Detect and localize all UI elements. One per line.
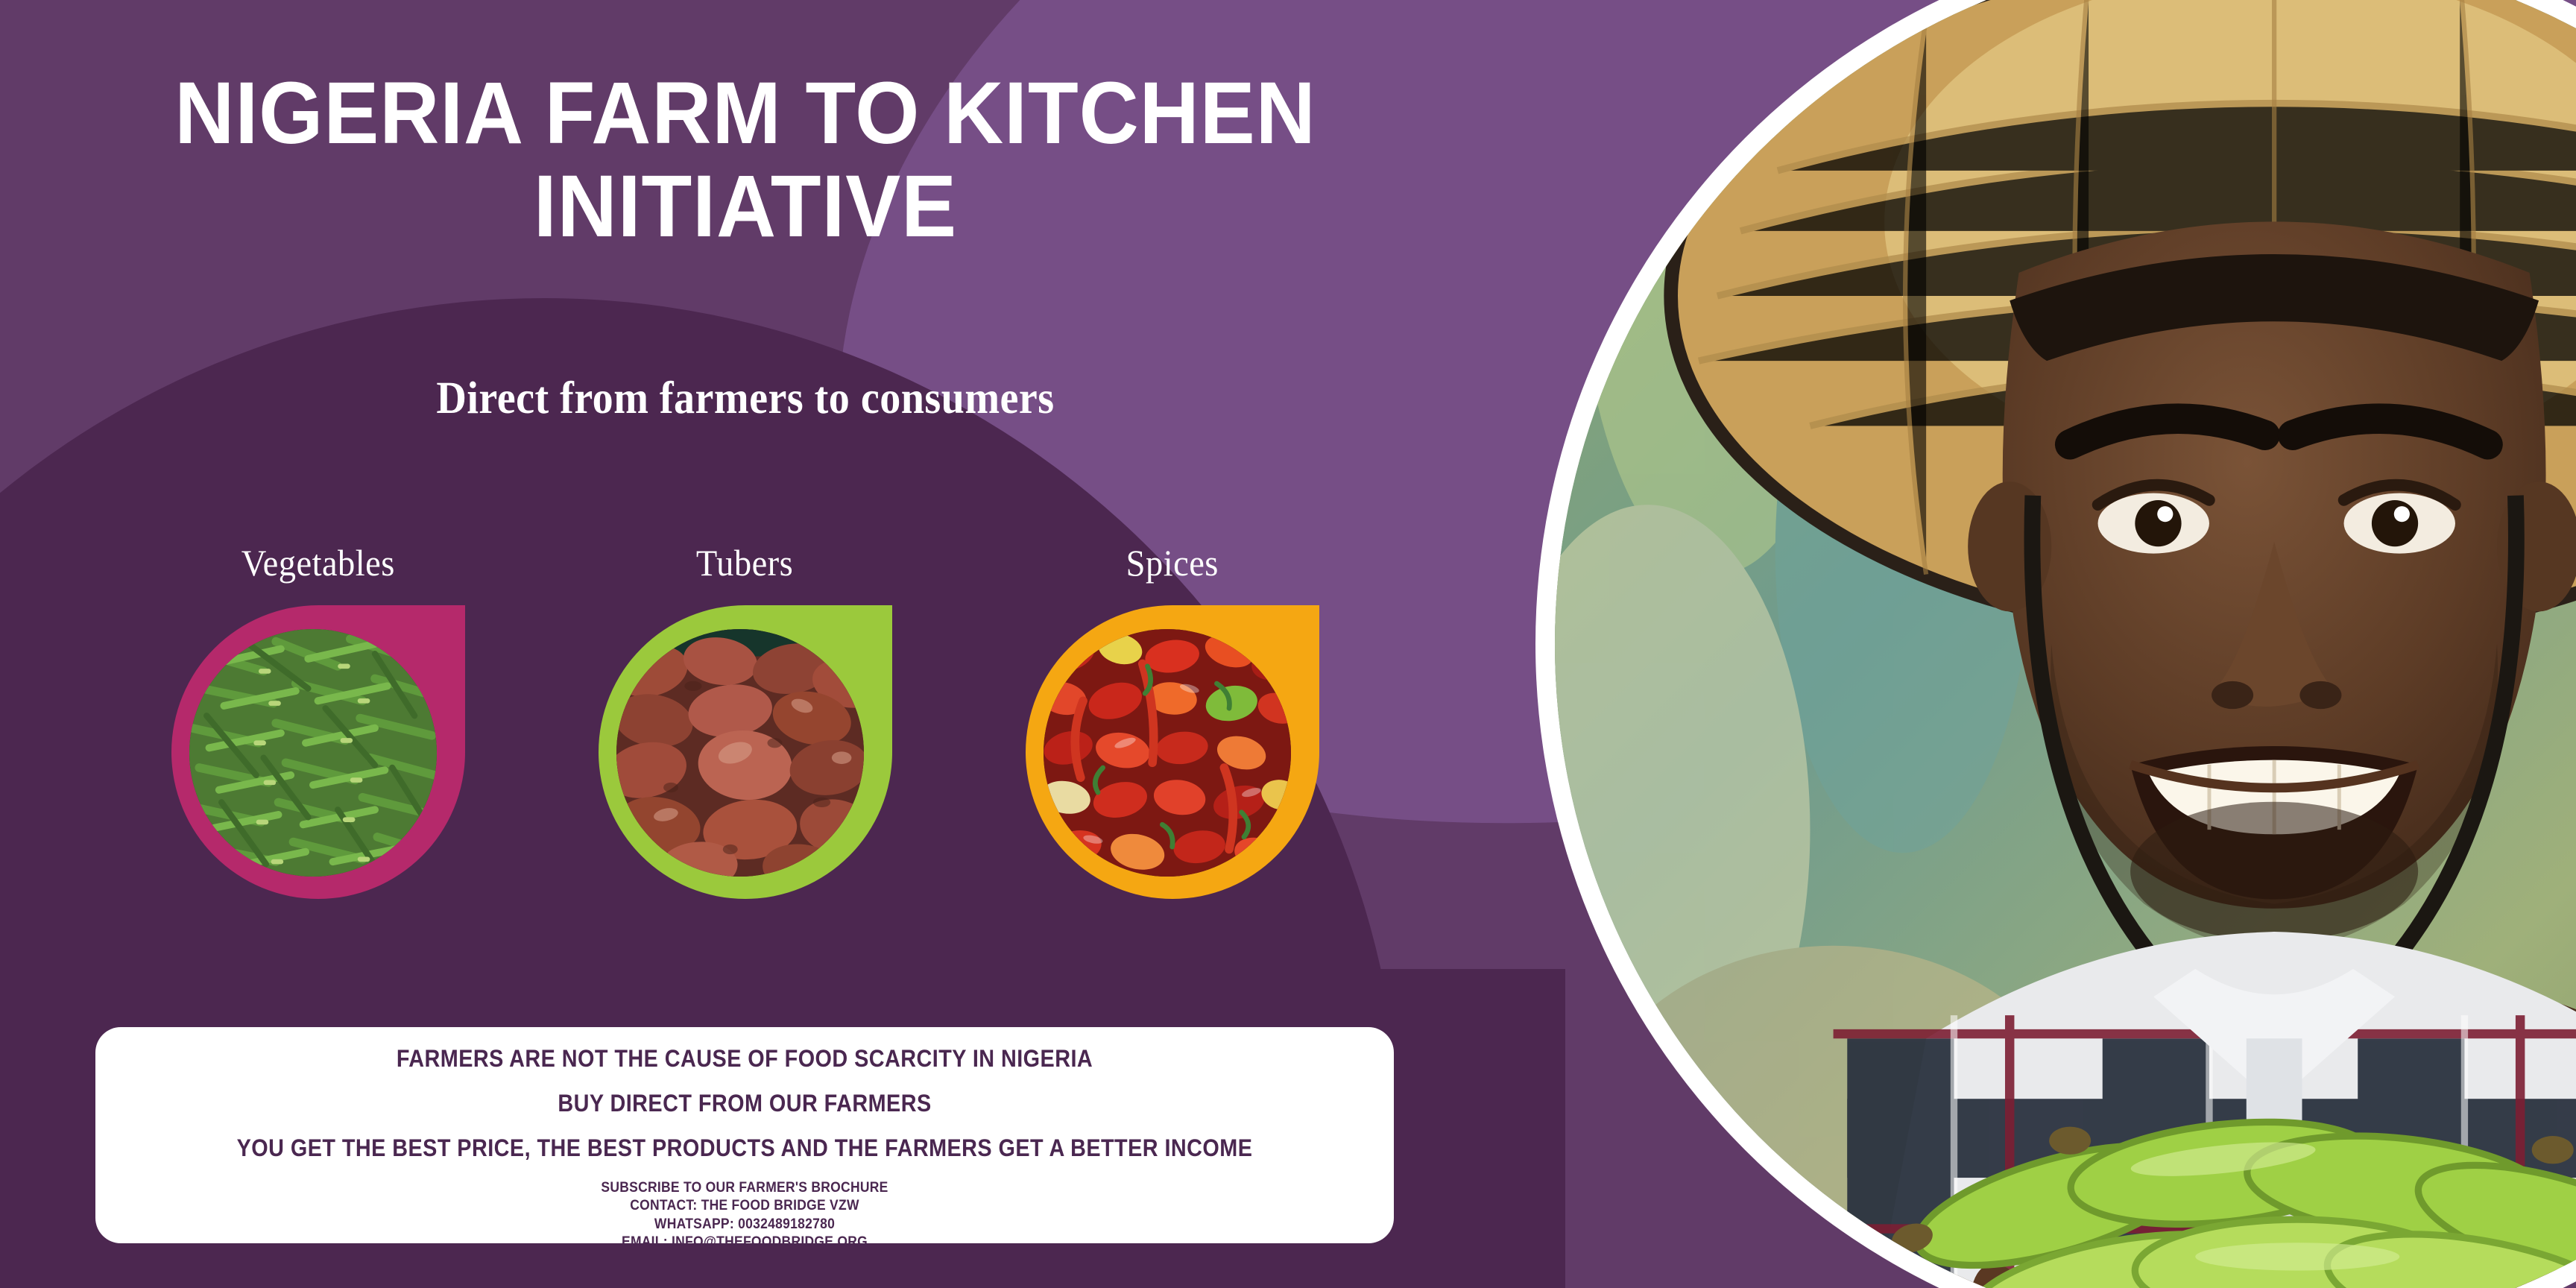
product-category-tubers: Tubers: [531, 544, 959, 899]
farmer-photo: [1555, 0, 2576, 1288]
product-label-spices: Spices: [1126, 544, 1218, 581]
product-shape-spices: [1026, 605, 1319, 899]
message-line-2: BUY DIRECT FROM OUR FARMERS: [177, 1091, 1313, 1115]
page-subtitle: Direct from farmers to consumers: [142, 373, 1348, 425]
message-card: FARMERS ARE NOT THE CAUSE OF FOOD SCARCI…: [95, 1027, 1394, 1243]
contact-subscribe: SUBSCRIBE TO OUR FARMER'S BROCHURE: [164, 1179, 1325, 1197]
product-category-spices: Spices: [959, 544, 1386, 899]
product-category-list: Vegetables: [104, 544, 1386, 899]
message-line-3: YOU GET THE BEST PRICE, THE BEST PRODUCT…: [177, 1136, 1313, 1160]
farmer-photo-frame: [1535, 0, 2576, 1288]
message-line-1: FARMERS ARE NOT THE CAUSE OF FOOD SCARCI…: [177, 1046, 1313, 1070]
product-label-tubers: Tubers: [696, 544, 793, 581]
sweet-potatoes-photo: [616, 629, 864, 877]
product-label-vegetables: Vegetables: [241, 544, 394, 581]
contact-whatsapp[interactable]: WHATSAPP: 0032489182780: [164, 1216, 1325, 1234]
okra-photo: [189, 629, 437, 877]
product-shape-vegetables: [171, 605, 465, 899]
contact-email[interactable]: EMAIL: INFO@THEFOODBRIDGE.ORG: [164, 1234, 1325, 1251]
product-category-vegetables: Vegetables: [104, 544, 531, 899]
contact-block: SUBSCRIBE TO OUR FARMER'S BROCHURE CONTA…: [164, 1179, 1325, 1251]
contact-organisation: CONTACT: THE FOOD BRIDGE VZW: [164, 1197, 1325, 1215]
page-title: NIGERIA FARM TO KITCHEN INITIATIVE: [129, 67, 1362, 253]
product-shape-tubers: [599, 605, 892, 899]
promotional-banner: NIGERIA FARM TO KITCHEN INITIATIVE Direc…: [0, 0, 2576, 1288]
chili-peppers-photo: [1044, 629, 1291, 877]
